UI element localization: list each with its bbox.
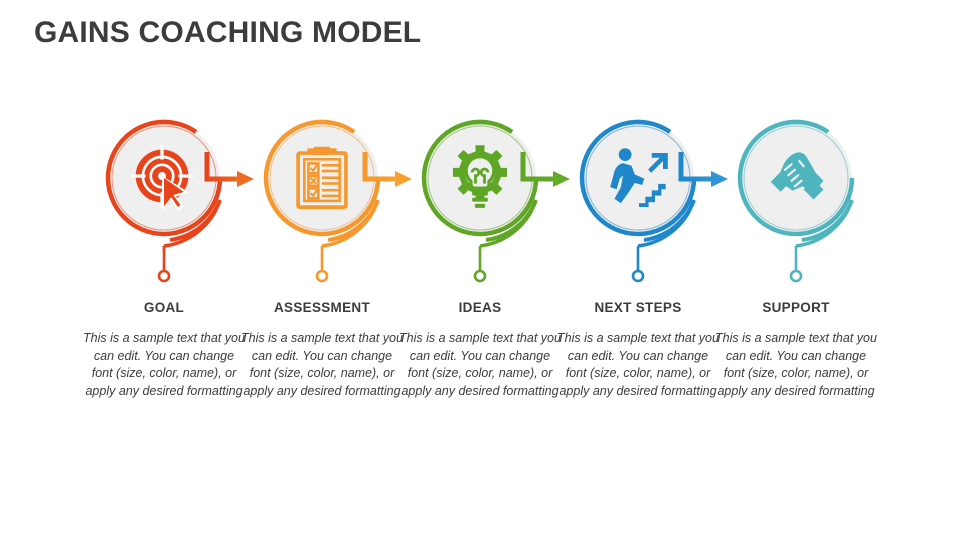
stage-body-ideas: This is a sample text that you can edit.… [398, 330, 562, 400]
stage-label-ideas: IDEAS [395, 300, 565, 315]
stage-assessment[interactable] [266, 122, 412, 281]
gains-process-diagram [0, 0, 960, 540]
stage-label-support: SUPPORT [711, 300, 881, 315]
stage-pin [633, 271, 643, 281]
stage-label-next-steps: NEXT STEPS [553, 300, 723, 315]
stage-pin [317, 271, 327, 281]
stage-body-support: This is a sample text that you can edit.… [714, 330, 878, 400]
stage-body-goal: This is a sample text that you can edit.… [82, 330, 246, 400]
stage-next-steps[interactable] [582, 122, 728, 281]
stage-pin [159, 271, 169, 281]
stage-pin [475, 271, 485, 281]
stage-label-goal: GOAL [79, 300, 249, 315]
stage-body-assessment: This is a sample text that you can edit.… [240, 330, 404, 400]
stage-ideas[interactable] [424, 122, 570, 281]
stage-pin [791, 271, 801, 281]
stage-goal[interactable] [108, 122, 254, 281]
stage-support[interactable] [740, 122, 852, 281]
stage-body-next-steps: This is a sample text that you can edit.… [556, 330, 720, 400]
slide-canvas: GAINS COACHING MODEL [0, 0, 960, 540]
stage-label-assessment: ASSESSMENT [237, 300, 407, 315]
